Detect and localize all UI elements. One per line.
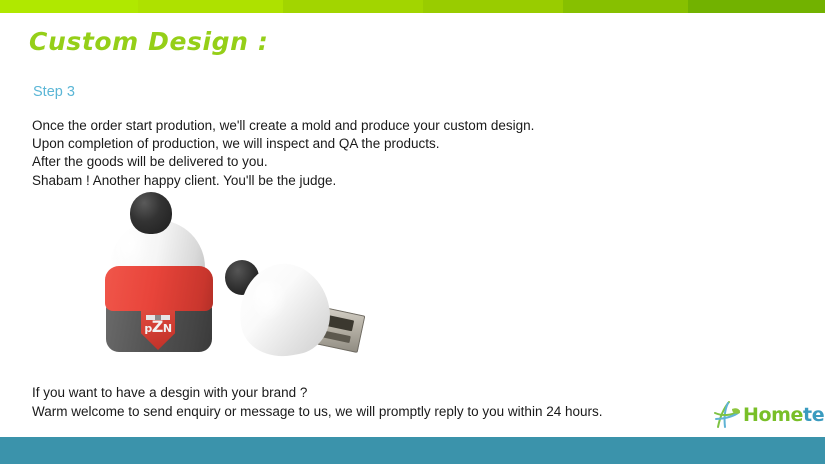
footer-paragraph: If you want to have a desgin with your b…: [32, 383, 603, 421]
hometech-wordmark: Hometech: [743, 404, 825, 426]
hat-red-band-shape: [105, 266, 213, 311]
footer-line-2: Warm welcome to send enquiry or message …: [32, 402, 603, 421]
logo-text-home: Home: [743, 404, 803, 426]
body-line-3: After the goods will be delivered to you…: [32, 153, 534, 171]
top-bar-segment-5: [563, 0, 688, 13]
top-bar-segment-2: [138, 0, 283, 13]
footer-line-1: If you want to have a desgin with your b…: [32, 383, 603, 402]
body-line-4: Shabam ! Another happy client. You'll be…: [32, 172, 534, 190]
sprout-leaf-icon: [712, 400, 742, 430]
product-image-beanie-hat-usb-red: pZN: [103, 192, 215, 352]
badge-text: pZN: [141, 320, 175, 335]
logo-text-tech: tech: [803, 404, 825, 426]
top-bar-segment-4: [423, 0, 563, 13]
top-bar-segment-6: [688, 0, 825, 13]
body-line-2: Upon completion of production, we will i…: [32, 135, 534, 153]
bottom-teal-bar: [0, 437, 825, 464]
hometech-logo: Hometech: [712, 398, 817, 432]
page-title: Custom Design :: [29, 27, 268, 56]
top-green-bar: [0, 0, 825, 13]
product-image-group: pZN: [95, 192, 365, 364]
step-label: Step 3: [33, 84, 75, 100]
body-paragraph: Once the order start prodution, we'll cr…: [32, 117, 534, 190]
top-bar-segment-1: [0, 0, 138, 13]
pompom-shape: [130, 192, 172, 234]
slide-canvas: Custom Design : Step 3 Once the order st…: [0, 0, 825, 464]
top-bar-segment-3: [283, 0, 423, 13]
body-line-1: Once the order start prodution, we'll cr…: [32, 117, 534, 135]
product-image-beanie-hat-usb-white-open: [225, 260, 365, 360]
